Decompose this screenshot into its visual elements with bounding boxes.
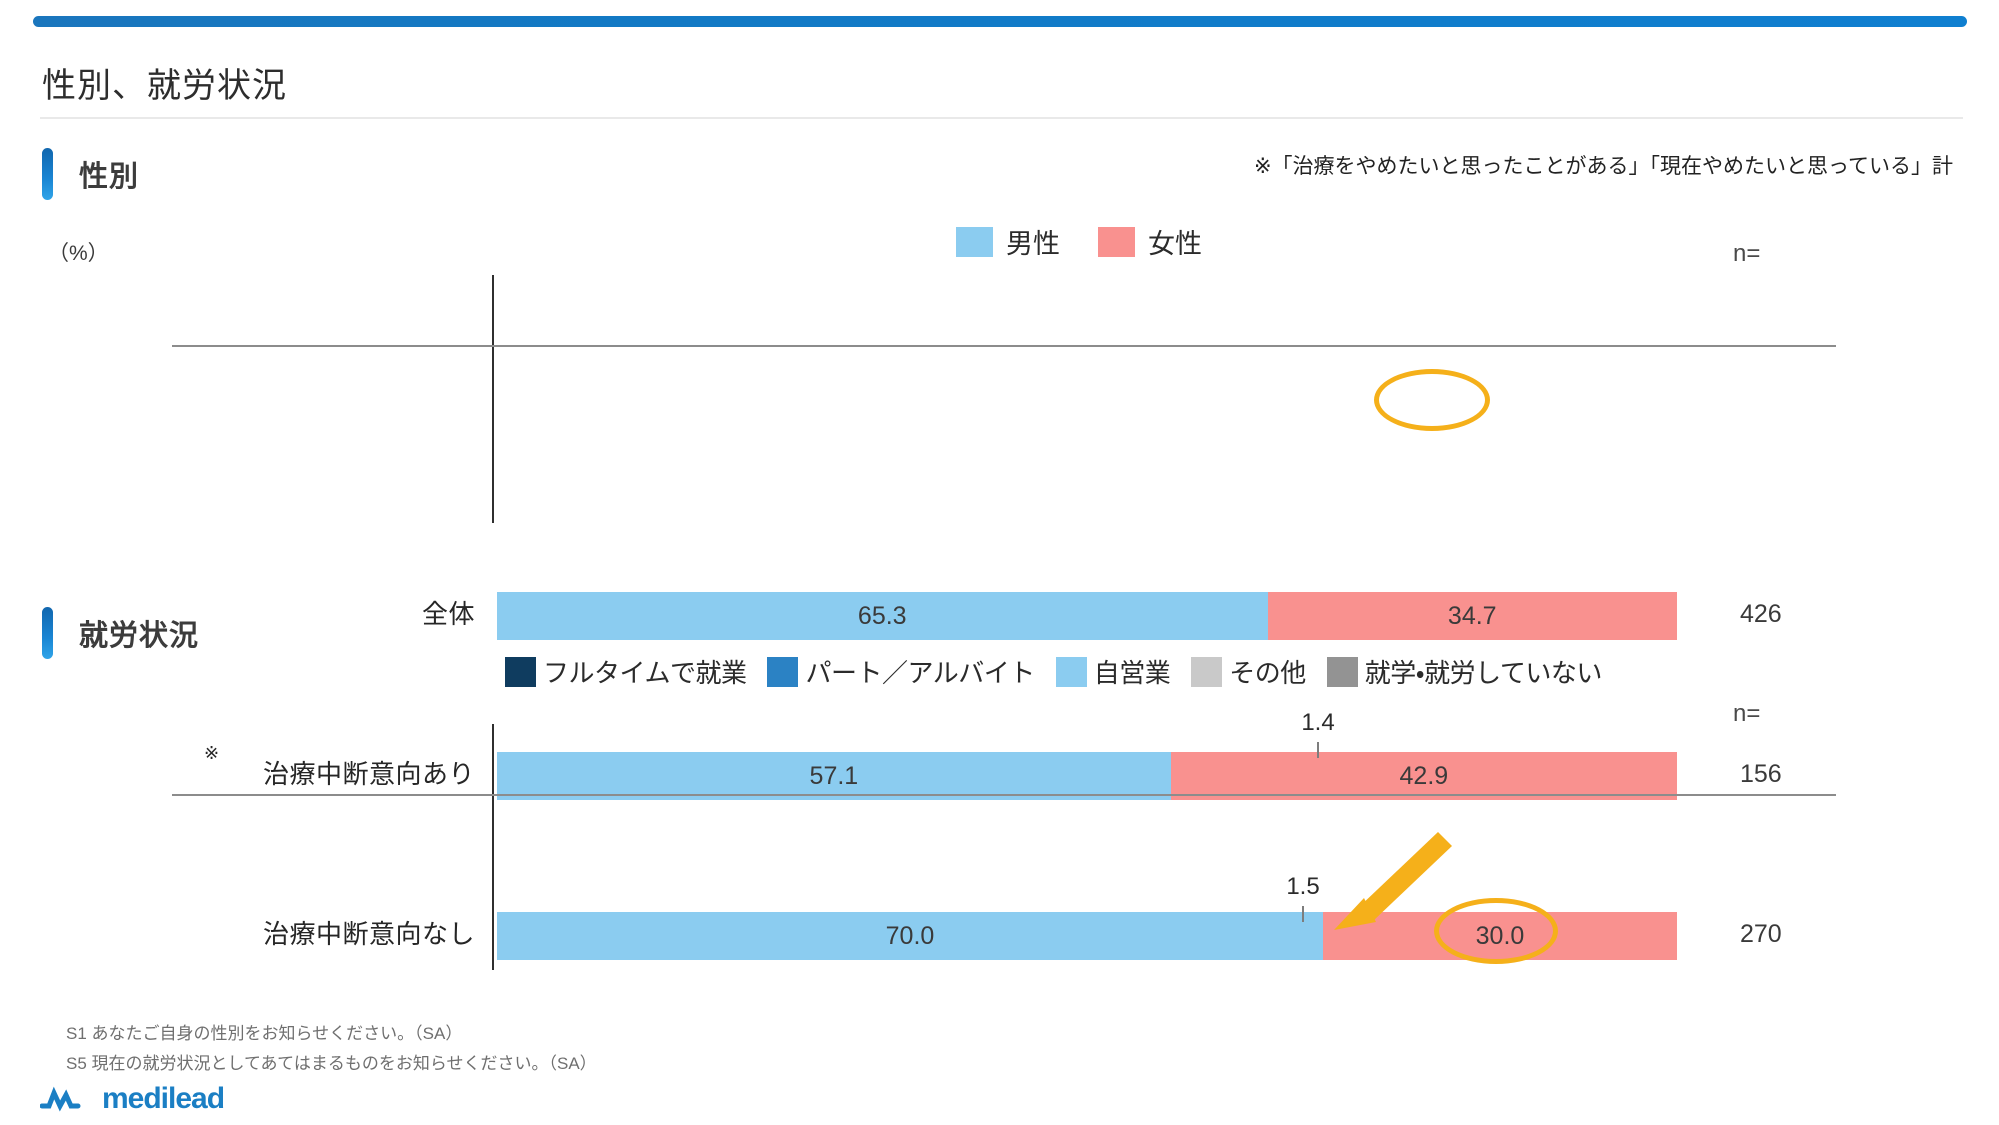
n-value-total-1: 426: [1740, 600, 1782, 629]
callout-other-intent-no: 1.5: [1268, 873, 1338, 901]
legend-item-parttime: パート／アルバイト: [767, 653, 1034, 690]
legend-item-fulltime: フルタイムで就業: [505, 653, 746, 690]
footnote-s1: S1 あなたご自身の性別をお知らせください。（SA）: [66, 1019, 462, 1044]
n-value-intent-no-1: 270: [1740, 920, 1782, 949]
row-label-total-1: 全体: [230, 594, 475, 631]
callout-tick-other-intent-no: [1302, 906, 1304, 922]
chart2-axis: [492, 724, 494, 970]
percent-unit-label-1: （%）: [48, 237, 109, 267]
legend-label-fulltime: フルタイムで就業: [543, 653, 746, 690]
chart1-separator: [172, 345, 1836, 347]
legend-label-male: 男性: [1006, 222, 1060, 261]
callout-tick-other-total: [1317, 742, 1319, 758]
row-asterisk-1: ※: [204, 743, 219, 764]
legend-item-other: その他: [1191, 653, 1306, 690]
brand-logo: medilead: [40, 1082, 224, 1116]
legend-gender: 男性 女性: [956, 222, 1202, 261]
slide-canvas: 性別、就労状況 性別 ※「治療をやめたいと思ったことがある」「現在やめたいと思っ…: [0, 0, 1999, 1125]
legend-item-male: 男性: [956, 222, 1060, 261]
legend-swatch-notworking-icon: [1327, 657, 1358, 687]
note-treatment-definition: ※「治療をやめたいと思ったことがある」「現在やめたいと思っている」計: [1254, 150, 1953, 180]
footnote-s5: S5 現在の就労状況としてあてはまるものをお知らせください。（SA）: [66, 1049, 597, 1074]
page-title: 性別、就労状況: [42, 58, 287, 107]
title-divider: [40, 117, 1963, 119]
legend-label-notworking: 就学・就労していない: [1365, 653, 1602, 690]
legend-item-selfemployed: 自営業: [1056, 653, 1171, 690]
legend-item-notworking: 就学・就労していない: [1327, 653, 1602, 690]
segment-male-intent-no: 70.0: [497, 912, 1323, 960]
section-header-gender: 性別: [42, 148, 139, 200]
n-header-1: n=: [1733, 240, 1760, 268]
legend-label-selfemployed: 自営業: [1094, 653, 1171, 690]
section-accent-bar-gender: [42, 148, 53, 200]
legend-swatch-female-icon: [1098, 227, 1135, 257]
bar-total-1: 65.3 34.7: [497, 592, 1677, 640]
top-accent-bar: [33, 16, 1967, 27]
segment-male-intent-yes: 57.1: [497, 752, 1171, 800]
section-label-employment: 就労状況: [79, 612, 199, 654]
row-label-intent-no-1: 治療中断意向なし: [230, 914, 475, 951]
n-value-intent-yes-1: 156: [1740, 760, 1782, 789]
brand-logo-text: medilead: [102, 1082, 224, 1116]
section-header-employment: 就労状況: [42, 607, 199, 659]
legend-swatch-parttime-icon: [767, 657, 798, 687]
segment-female-intent-yes: 42.9: [1171, 752, 1677, 800]
legend-label-other: その他: [1229, 653, 1306, 690]
row-label-intent-yes-1: 治療中断意向あり: [230, 754, 475, 791]
n-header-2: n=: [1733, 700, 1760, 728]
legend-employment: フルタイムで就業 パート／アルバイト 自営業 その他 就学・就労していない: [505, 653, 1602, 690]
callout-other-total: 1.4: [1283, 709, 1353, 737]
legend-swatch-fulltime-icon: [505, 657, 536, 687]
legend-label-female: 女性: [1148, 222, 1202, 261]
legend-swatch-male-icon: [956, 227, 993, 257]
legend-item-female: 女性: [1098, 222, 1202, 261]
segment-female-total: 34.7: [1268, 592, 1677, 640]
chart2-separator: [172, 794, 1836, 796]
legend-label-parttime: パート／アルバイト: [805, 653, 1034, 690]
wave-mark-icon: [40, 1082, 98, 1116]
segment-male-total: 65.3: [497, 592, 1268, 640]
annotation-ellipse-42-9: [1374, 369, 1490, 431]
bar-intent-yes-1: 57.1 42.9: [497, 752, 1677, 800]
section-label-gender: 性別: [79, 153, 139, 195]
legend-swatch-other-icon: [1191, 657, 1222, 687]
bar-intent-no-1: 70.0 30.0: [497, 912, 1677, 960]
section-accent-bar-employment: [42, 607, 53, 659]
chart1-axis: [492, 275, 494, 523]
legend-swatch-selfemployed-icon: [1056, 657, 1087, 687]
segment-female-intent-no: 30.0: [1323, 912, 1677, 960]
